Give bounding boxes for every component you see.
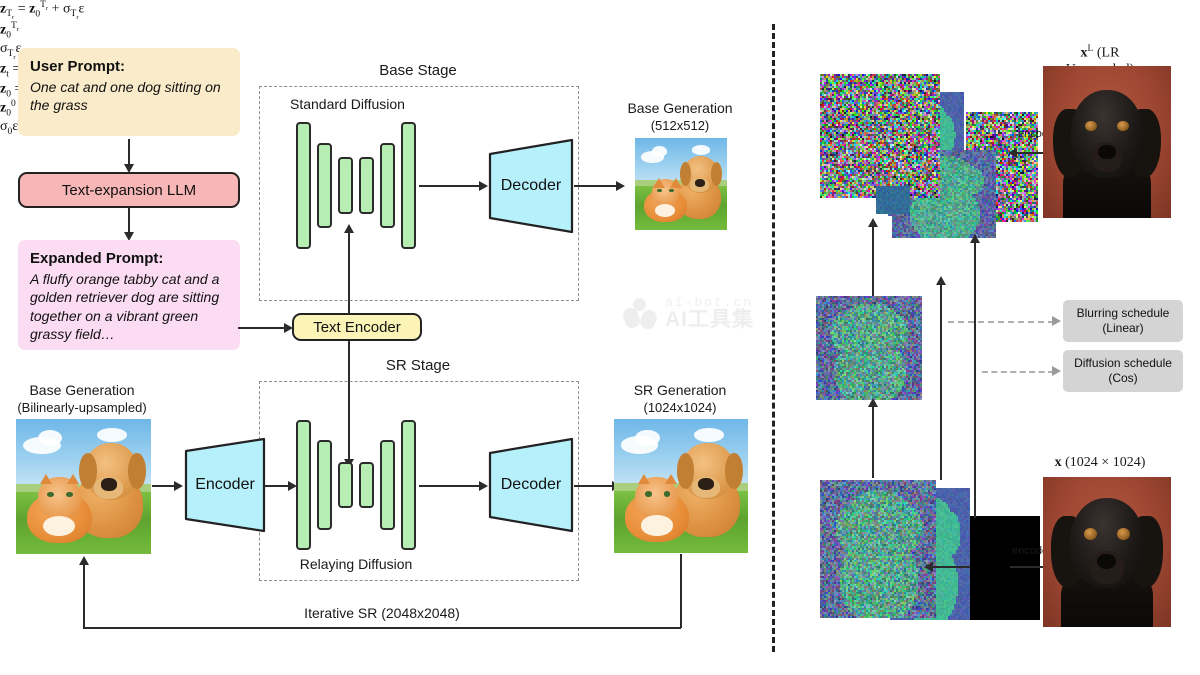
base-unet-bar-5	[380, 143, 395, 228]
latent-tile-0	[820, 480, 936, 618]
sr-unet-bar-6	[401, 420, 416, 550]
connector-base-unet-to-decoder	[419, 185, 481, 187]
sr-unet-bar-2	[317, 440, 332, 530]
sr-generation-image	[614, 419, 748, 553]
arrowhead-encode-tr	[1008, 148, 1017, 158]
sr-unet-bar-5	[380, 440, 395, 530]
base-unet-bar-3	[338, 157, 353, 214]
arrowhead-flow-noise-chain	[970, 234, 980, 243]
equation-tr: zTr = z0Tr + σTrε	[0, 0, 1200, 21]
sr-unet-bar-4	[359, 462, 374, 508]
feedback-line-across	[83, 627, 681, 629]
user-prompt-title: User Prompt:	[30, 57, 228, 77]
ground-truth-label: x (1024 × 1024)	[1055, 455, 1146, 471]
connector-expanded-to-encoder	[238, 327, 286, 329]
expanded-prompt-text: A fluffy orange tabby cat and a golden r…	[30, 270, 228, 344]
zero-noise-block	[968, 516, 1040, 620]
expanded-prompt-title: Expanded Prompt:	[30, 249, 228, 269]
lr-upsampled-image	[1043, 66, 1171, 218]
connector-sr-unet-to-decoder	[419, 485, 481, 487]
base-unet-bar-4	[359, 157, 374, 214]
arrowhead-blurring	[1052, 316, 1061, 326]
base-stage-title: Base Stage	[379, 62, 457, 79]
panel-divider	[772, 24, 775, 652]
sr-input-subtitle: (Bilinearly-upsampled)	[17, 400, 146, 415]
base-generation-title: Base Generation	[627, 100, 732, 116]
blurring-schedule-name: Blurring schedule	[1077, 306, 1170, 321]
arrowhead-base-decoder-to-output	[616, 181, 625, 191]
connector-llm-to-expanded	[128, 208, 130, 234]
base-decoder[interactable]: Decoder	[488, 138, 574, 234]
base-unet-bar-2	[317, 143, 332, 228]
arrowhead-flow-t-to-tr	[868, 218, 878, 227]
sr-encoder[interactable]: Encoder	[184, 437, 266, 533]
arrowhead-sr-input-to-encoder	[174, 481, 183, 491]
blurring-schedule-detail: (Linear)	[1102, 321, 1143, 336]
label-latent-tr: z0Tr	[0, 21, 1200, 40]
feedback-line-up	[83, 562, 85, 628]
sr-decoder[interactable]: Decoder	[488, 437, 574, 533]
base-decoder-label: Decoder	[488, 138, 574, 234]
sr-unet-label: Relaying Diffusion	[300, 556, 413, 572]
text-encoder-box[interactable]: Text Encoder	[292, 313, 422, 341]
text-expansion-llm-box[interactable]: Text-expansion LLM	[18, 172, 240, 208]
sr-unet-bar-1	[296, 420, 311, 550]
diffusion-schedule-name: Diffusion schedule	[1074, 356, 1172, 371]
arrowhead-feedback	[79, 556, 89, 565]
expanded-prompt-box: Expanded Prompt: A fluffy orange tabby c…	[18, 240, 240, 350]
sr-unet-bar-3	[338, 462, 353, 508]
connector-sr-input-to-encoder	[152, 485, 176, 487]
flow-arrow-0-to-t	[872, 404, 874, 478]
blurring-schedule-box: Blurring schedule (Linear)	[1063, 300, 1183, 342]
text-encoder-label: Text Encoder	[313, 319, 401, 336]
dashed-connector-blurring	[948, 321, 1054, 323]
arrowhead-sr-unet-to-decoder	[479, 481, 488, 491]
sr-input-title: Base Generation	[29, 382, 134, 398]
watermark-logo-icon	[624, 298, 658, 328]
sr-generation-subtitle: (1024x1024)	[644, 400, 717, 415]
iterative-sr-label: Iterative SR (2048x2048)	[298, 605, 466, 621]
flow-arrow-clean-chain	[940, 282, 942, 480]
arrowhead-flow-0-to-t	[868, 398, 878, 407]
base-generation-image	[635, 138, 727, 230]
arrowhead-flow-clean-chain	[936, 276, 946, 285]
figure-canvas: User Prompt: One cat and one dog sitting…	[0, 0, 1200, 675]
arrowhead-diffusion	[1052, 366, 1061, 376]
sr-generation-title: SR Generation	[634, 382, 727, 398]
base-unet-bar-1	[296, 122, 311, 249]
base-generation-subtitle: (512x512)	[651, 118, 710, 133]
text-expansion-llm-label: Text-expansion LLM	[62, 182, 196, 199]
feedback-line-down	[680, 554, 682, 628]
sr-stage-title: SR Stage	[386, 357, 450, 374]
user-prompt-text: One cat and one dog sitting on the grass	[30, 78, 228, 115]
sr-input-image	[16, 419, 151, 554]
diffusion-schedule-box: Diffusion schedule (Cos)	[1063, 350, 1183, 392]
base-unet-label: Standard Diffusion	[290, 96, 405, 112]
sr-encoder-label: Encoder	[184, 437, 266, 533]
latent-tile-tr-noisy	[820, 74, 940, 198]
base-unet-bar-6	[401, 122, 416, 249]
arrowhead-base-unet-to-decoder	[479, 181, 488, 191]
flow-arrow-t-to-tr	[872, 224, 874, 296]
dashed-connector-diffusion	[982, 371, 1054, 373]
connector-base-decoder-to-output	[574, 185, 618, 187]
flow-arrow-noise-chain	[974, 240, 976, 518]
connector-encode-0-inner	[930, 566, 970, 568]
connector-encoder-to-sr-unet-h	[264, 485, 290, 487]
connector-prompt-to-llm	[128, 139, 130, 166]
watermark-bottom-text: AI工具集	[665, 309, 754, 330]
sr-decoder-label: Decoder	[488, 437, 574, 533]
ground-truth-image	[1043, 477, 1171, 627]
connector-sr-decoder-to-output	[574, 485, 614, 487]
diffusion-schedule-detail: (Cos)	[1108, 371, 1137, 386]
user-prompt-box: User Prompt: One cat and one dog sitting…	[18, 48, 240, 136]
watermark: ai-bot.cn AI工具集	[624, 296, 754, 330]
latent-tile-tr-blue	[876, 186, 910, 214]
latent-tile-t	[816, 296, 922, 400]
